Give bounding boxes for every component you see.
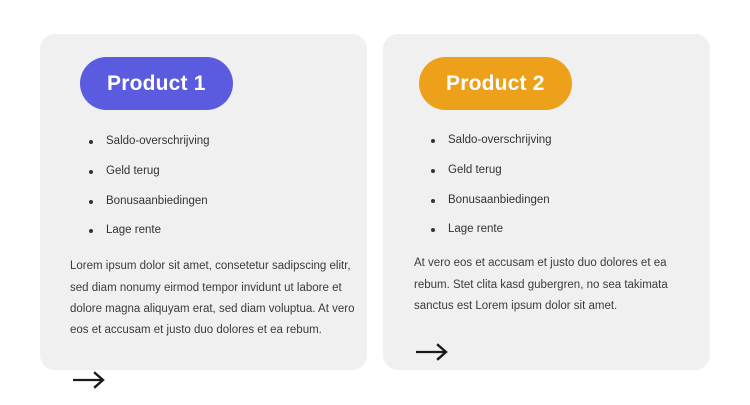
arrow-right-icon	[415, 343, 451, 361]
list-item: Saldo-overschrijving	[88, 133, 238, 151]
list-item: Geld terug	[430, 162, 700, 180]
product-card-1[interactable]: Product 1 Saldo-overschrijving Geld teru…	[40, 34, 367, 370]
list-item: Bonusaanbiedingen	[430, 192, 700, 210]
product-2-badge: Product 2	[419, 57, 572, 110]
product-2-description: At vero eos et accusam et justo duo dolo…	[414, 253, 704, 317]
list-item: Bonusaanbiedingen	[88, 193, 238, 211]
product-1-feature-list: Saldo-overschrijving Geld terug Bonusaan…	[88, 133, 238, 240]
product-1-badge-label: Product 1	[107, 73, 206, 94]
list-item: Lage rente	[430, 221, 700, 239]
product-1-description: Lorem ipsum dolor sit amet, consetetur s…	[70, 256, 360, 341]
list-item: Geld terug	[88, 163, 238, 181]
list-item: Lage rente	[88, 222, 238, 240]
arrow-right-icon	[72, 371, 108, 389]
list-item: Saldo-overschrijving	[430, 132, 700, 150]
product-1-arrow-link[interactable]	[72, 371, 108, 389]
product-2-badge-label: Product 2	[446, 73, 545, 94]
product-comparison-board: Product 1 Saldo-overschrijving Geld teru…	[0, 0, 750, 405]
product-1-badge: Product 1	[80, 57, 233, 110]
product-2-feature-list: Saldo-overschrijving Geld terug Bonusaan…	[430, 132, 700, 239]
product-card-2[interactable]: Product 2 Saldo-overschrijving Geld teru…	[383, 34, 710, 370]
product-2-arrow-link[interactable]	[415, 343, 451, 361]
